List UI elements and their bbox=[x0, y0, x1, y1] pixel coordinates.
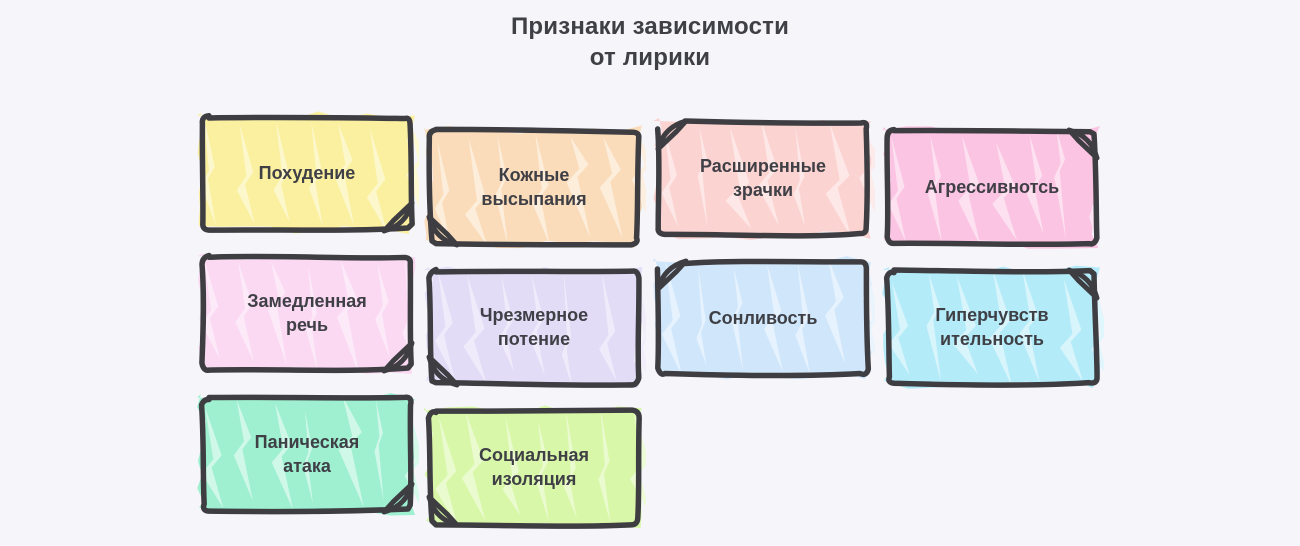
card-label: Гиперчувств ительность bbox=[888, 271, 1096, 384]
symptom-board: Признаки зависимости от лирики Похудение… bbox=[0, 0, 1300, 546]
card-label: Социальная изоляция bbox=[430, 411, 638, 524]
page-title: Признаки зависимости от лирики bbox=[0, 12, 1300, 73]
symptom-card[interactable]: Чрезмерное потение bbox=[430, 271, 638, 384]
symptom-card[interactable]: Сонливость bbox=[659, 262, 867, 375]
card-label: Кожные высыпания bbox=[430, 131, 638, 244]
symptom-card[interactable]: Замедленная речь bbox=[203, 257, 411, 370]
card-label: Замедленная речь bbox=[203, 257, 411, 370]
symptom-card[interactable]: Расширенные зрачки bbox=[659, 122, 867, 235]
card-label: Паническая атака bbox=[203, 398, 411, 511]
card-label: Агрессивнотсь bbox=[888, 131, 1096, 244]
symptom-card[interactable]: Гиперчувств ительность bbox=[888, 271, 1096, 384]
card-label: Сонливость bbox=[659, 262, 867, 375]
card-label: Чрезмерное потение bbox=[430, 271, 638, 384]
symptom-card[interactable]: Социальная изоляция bbox=[430, 411, 638, 524]
symptom-card[interactable]: Похудение bbox=[203, 117, 411, 230]
symptom-card[interactable]: Кожные высыпания bbox=[430, 131, 638, 244]
card-label: Расширенные зрачки bbox=[659, 122, 867, 235]
card-label: Похудение bbox=[203, 117, 411, 230]
symptom-card[interactable]: Паническая атака bbox=[203, 398, 411, 511]
symptom-card[interactable]: Агрессивнотсь bbox=[888, 131, 1096, 244]
